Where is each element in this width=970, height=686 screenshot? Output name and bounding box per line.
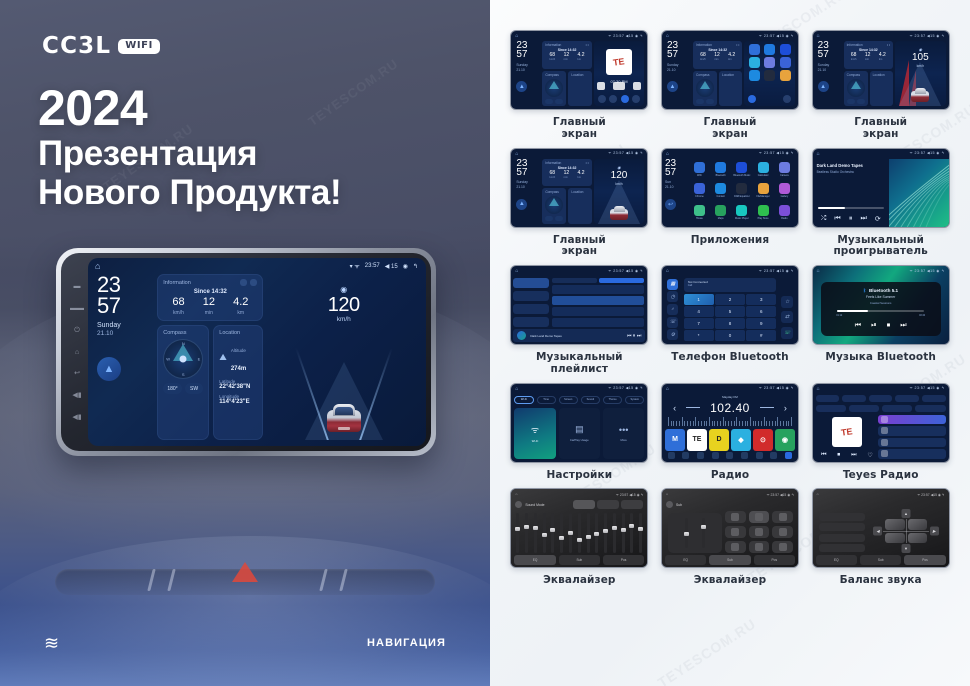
caption-line-1: Приложения	[691, 234, 770, 246]
previous-icon: ⏮	[834, 215, 840, 223]
dial-key[interactable]: 4	[684, 306, 714, 317]
side-hardware-keys[interactable]: ▬ ▬▬ ⏻ ⌂ ↩ ◀▮ ◀▮	[66, 258, 88, 446]
eq-preset-key[interactable]	[749, 511, 770, 523]
compass-card[interactable]: Compass	[542, 188, 566, 223]
eq-preset-key[interactable]	[725, 526, 746, 538]
thumb-status-bar: ⌂ ᯤ 23:57 ◀15 ◉ ↰	[662, 31, 798, 41]
location-card[interactable]: Location ⛰ Altitude 274m	[213, 325, 263, 440]
radio-preset[interactable]: M	[665, 429, 685, 451]
caption-line-2: экран	[712, 128, 748, 140]
teyes-tab[interactable]	[816, 395, 840, 402]
mountain-icon: ⛰	[219, 352, 227, 363]
gallery-item[interactable]: ⌂ᯤ 23:57 ◀15 ◉ ↰ Sub EQSubPos Эквалайзер	[659, 488, 802, 587]
stat-item: 12min	[865, 53, 871, 61]
clock-hours: 23	[97, 274, 152, 295]
app-icon[interactable]: Contact	[711, 181, 730, 201]
home-icon[interactable]: ⌂	[817, 492, 819, 496]
home-icon[interactable]: ⌂	[95, 261, 100, 271]
dial-key[interactable]: 7	[684, 318, 714, 329]
home-icon[interactable]: ⌂	[666, 386, 669, 392]
head-unit-screen[interactable]: ⌂ ▾ ᯤ 23:57 ◀ 15 ◉ ↰	[88, 258, 426, 446]
status-icons: ᯤ 23:57 ◀15 ◉ ↰	[608, 151, 643, 156]
home-icon[interactable]: ⌂	[515, 33, 518, 39]
seek-up-icon[interactable]: ›	[784, 403, 787, 413]
caption-line-2: экран	[561, 245, 597, 257]
eq-band-slider[interactable]	[630, 513, 633, 553]
dialpad: 123456789*0#	[684, 294, 777, 341]
sound-mode-chip[interactable]: Sound Mode	[515, 501, 544, 508]
teyes-tab[interactable]	[842, 395, 866, 402]
expand-icon[interactable]	[250, 279, 257, 286]
dashboard-lower-curve	[0, 536, 490, 686]
home-icon[interactable]: ⌂	[817, 151, 820, 157]
radio-toolbar-icon[interactable]	[741, 452, 748, 459]
tab-sub: Sub	[860, 555, 901, 565]
gallery-item[interactable]: ⌂ ᯤ 23:57 ◀15 ◉ ↰ 23 57 Sunday21.10 ▲ In…	[809, 30, 952, 141]
eq-preset-key[interactable]	[725, 511, 746, 523]
app-icon[interactable]: WiFi	[690, 160, 709, 180]
settings-tabs: Wi-FiTimeScreenSoundThemeSystem	[514, 396, 644, 404]
back-icon[interactable]: ↩	[665, 199, 676, 210]
media-widget[interactable]: TE 07:30 PM	[594, 41, 645, 106]
app-icon[interactable]	[763, 44, 777, 55]
navigation-fab[interactable]: ▲	[818, 81, 829, 92]
app-icon[interactable]	[747, 70, 761, 81]
balance-down-icon[interactable]: ▼	[902, 544, 911, 553]
navigation-fab[interactable]: ▲	[516, 199, 527, 210]
app-icon[interactable]	[778, 57, 792, 68]
screen-thumbnail[interactable]: ⌂ ᯤ 23:57 ◀15 ◉ ↰ ▦◷ ⌕☏⚙ Not Connected C…	[661, 265, 799, 345]
playback-controls[interactable]: ⏮⏹⏭♡	[816, 452, 879, 459]
seat-preset-row[interactable]	[819, 523, 865, 531]
tab-eq: EQ	[816, 555, 857, 565]
gallery-item[interactable]: ⌂ᯤ 23:57 ◀15 ◉ ↰ Sound Mode EQSubPos Экв…	[508, 488, 651, 587]
thumbnail-caption: Радио	[711, 470, 749, 482]
location-card[interactable]: Location	[568, 188, 591, 223]
previous-icon	[597, 82, 605, 90]
thumbnail-caption: Музыкальныйпроигрыватель	[833, 235, 927, 259]
radio-toolbar-icon[interactable]	[682, 452, 689, 459]
dial-key[interactable]: 0	[715, 330, 745, 341]
app-icon[interactable]: Music Player	[732, 203, 751, 223]
app-icon[interactable]: Hicate	[690, 203, 709, 223]
status-clock: 23:57	[365, 263, 380, 269]
home-icon[interactable]: ⌂	[515, 386, 518, 392]
eq-band-slider[interactable]	[534, 513, 537, 553]
clock-date: Sunday21.10	[818, 63, 842, 73]
station-row[interactable]	[878, 415, 946, 425]
thumb-status-bar: ⌂ ᯤ 23:57 ◀15 ◉ ↰	[511, 149, 647, 159]
contacts-icon: ☏	[667, 317, 678, 328]
eq-band-slider[interactable]	[525, 513, 528, 553]
speed-unit: km/h	[594, 182, 645, 186]
dial-key[interactable]: 3	[746, 294, 776, 305]
app-icon[interactable]	[763, 57, 777, 68]
eq-footer-tabs[interactable]: EQSubPos	[514, 555, 644, 565]
playlist-row[interactable]	[552, 318, 644, 327]
stat-item: 4.2km	[578, 171, 585, 179]
screen-thumbnail[interactable]: ⌂ ᯤ 23:57 ◀15 ◉ ↰ 2357 Sun21.10↩ WiFiBlu…	[661, 148, 799, 228]
app-icon[interactable]: Bluetooth	[711, 160, 730, 180]
driving-widget[interactable]: ◉ 105 km/h	[895, 41, 946, 106]
eq-band-slider[interactable]	[613, 513, 616, 553]
radio-toolbar-icon[interactable]	[712, 452, 719, 459]
playback-controls[interactable]: ⏮⏯ ⏹⏭	[855, 322, 907, 330]
radio-toolbar-icon[interactable]	[697, 452, 704, 459]
power-key-icon[interactable]: ⏻	[74, 327, 80, 334]
screen-thumbnail[interactable]: ⌂ ᯤ 23:57 ◀15 ◉ ↰ 23 57 Sunday21.10 ▲ In…	[661, 30, 799, 110]
station-row[interactable]	[878, 438, 946, 448]
gallery-item[interactable]: ⌂ᯤ 23:57 ◀15 ◉ ↰ ▲ ▼ ◀ ▶ EQSubPos Баланс…	[809, 488, 952, 587]
back-icon[interactable]: ↰	[413, 263, 418, 270]
teyes-filter[interactable]	[882, 405, 912, 412]
thumbnail-caption: Teyes Радио	[843, 470, 919, 482]
playback-controls[interactable]: ⤮⏮ ⏸⏭⟳	[817, 215, 885, 223]
seat-preset-row[interactable]	[819, 513, 865, 521]
radio-preset[interactable]: TE	[687, 429, 707, 451]
eq-preset-key[interactable]	[725, 541, 746, 553]
navigation-fab[interactable]: ▲	[667, 81, 678, 92]
dial-key[interactable]: #	[746, 330, 776, 341]
layers-icon: ≋	[44, 634, 59, 652]
compass-dial: N S E W	[163, 339, 203, 379]
album-art: TE	[606, 49, 632, 75]
eq-preset-key[interactable]	[772, 511, 793, 523]
stop-icon: ⏹	[837, 452, 840, 459]
screen-thumbnail[interactable]: ⌂ ᯤ 23:57 ◀15 ◉ ↰ ᛒBluetooth 5.1 Feels L…	[812, 265, 950, 345]
navigation-fab[interactable]: ▲	[97, 357, 121, 381]
home-icon[interactable]: ⌂	[515, 492, 517, 496]
app-shortcuts[interactable]	[744, 41, 795, 106]
progress-bar[interactable]	[837, 310, 923, 311]
tab-icon	[621, 95, 629, 103]
status-icons: ᯤ 23:57 ◀15 ◉ ↰	[759, 34, 794, 39]
call-label: Call	[688, 284, 773, 287]
balance-up-icon[interactable]: ▲	[902, 509, 911, 518]
dial-key[interactable]: 9	[746, 318, 776, 329]
teyes-tab[interactable]	[895, 395, 919, 402]
eq-band-slider[interactable]	[551, 513, 554, 553]
eq-footer-tabs[interactable]: EQSubPos	[665, 555, 795, 565]
compass-card[interactable]: Compass	[542, 71, 566, 106]
app-icon[interactable]: Chrome	[690, 181, 709, 201]
stat-item: 12min	[564, 171, 570, 179]
eq-band-slider[interactable]	[622, 513, 625, 553]
radio-preset[interactable]: D	[709, 429, 729, 451]
radio-toolbar-icon[interactable]	[770, 452, 777, 459]
frequency-scale[interactable]	[668, 417, 792, 426]
gallery-item[interactable]: ⌂ ᯤ 23:57 ◀15 ◉ ↰ Dark Land Demo Tapes ⏮…	[508, 265, 651, 376]
radio-toolbar-icon[interactable]	[726, 452, 733, 459]
compass-card[interactable]: Compass	[844, 71, 868, 106]
preset-button[interactable]	[597, 500, 619, 509]
home-icon[interactable]: ⌂	[817, 33, 820, 39]
information-stats: 68km/h 12min 4.2km	[545, 53, 588, 61]
compass-heading-cone	[851, 81, 861, 89]
screen-thumbnail[interactable]: ⌂ ᯤ 23:57 ◀15 ◉ ↰ TE ⏮⏹⏭♡	[812, 383, 950, 463]
thumbnail-caption: Приложения	[691, 235, 770, 247]
tune-up-icon[interactable]	[760, 407, 774, 409]
radio-preset[interactable]: ⊙	[753, 429, 773, 451]
compass-e: E	[198, 357, 201, 362]
settings-tab[interactable]: Time	[537, 396, 556, 404]
menu-key-icon[interactable]: ▬	[74, 283, 81, 290]
clock-widget: 2357 Sun21.10↩	[665, 159, 686, 224]
screen-thumbnail[interactable]: ⌂ᯤ 23:57 ◀15 ◉ ↰ ▲ ▼ ◀ ▶ EQSubPos	[812, 488, 950, 568]
settings-tab[interactable]: Wi-Fi	[514, 396, 533, 404]
eq-band-slider[interactable]	[578, 513, 581, 553]
thumb-status-bar: ⌂ᯤ 23:57 ◀15 ◉ ↰	[813, 489, 949, 499]
dial-key[interactable]: 6	[746, 306, 776, 317]
compass-direction: SW	[185, 383, 204, 394]
gallery-item[interactable]: ⌂ ᯤ 23:57 ◀15 ◉ ↰ ᛒBluetooth 5.1 Feels L…	[809, 265, 952, 376]
information-card[interactable]: Information• • Since 14:32 68km/h 12min …	[542, 41, 591, 69]
home-icon[interactable]: ⌂	[817, 268, 820, 274]
app-icon[interactable]	[778, 44, 792, 55]
home-screen: 23 57 Sunday21.10 ▲ Information• • Since…	[665, 41, 795, 106]
information-card-actions[interactable]	[240, 279, 257, 286]
gallery-item[interactable]: ⌂ ᯤ 23:57 ◀15 ◉ ↰ ▦◷ ⌕☏⚙ Not Connected C…	[659, 265, 802, 376]
driving-widget[interactable]: ◉ 120 km/h	[268, 274, 419, 440]
compass-dial	[696, 79, 714, 97]
station-row[interactable]	[878, 449, 946, 459]
radio-toolbar-icon[interactable]	[756, 452, 763, 459]
track-title: Dark Land Demo Tapes	[530, 334, 561, 338]
speed-icon: ◉	[340, 285, 347, 294]
information-title: Information• •	[545, 43, 588, 47]
eq-band-slider[interactable]	[604, 513, 607, 553]
settings-tab[interactable]: Screen	[559, 396, 578, 404]
eq-band-slider[interactable]	[595, 513, 598, 553]
eq-preset-key[interactable]	[749, 526, 770, 538]
eq-preset-key[interactable]	[749, 541, 770, 553]
mute-key-icon[interactable]: ▬▬	[70, 305, 84, 312]
eq-band-slider[interactable]	[543, 513, 546, 553]
location-card[interactable]: Location	[719, 71, 742, 106]
screen-thumbnail[interactable]: ⌂ᯤ 23:57 ◀15 ◉ ↰ Sub EQSubPos	[661, 488, 799, 568]
eq-band-slider[interactable]	[587, 513, 590, 553]
seat-preset-row[interactable]	[819, 544, 865, 552]
app-icon[interactable]: DAB Equalizer	[732, 181, 751, 201]
screen-thumbnail[interactable]: ⌂ ᯤ 23:57 ◀15 ◉ ↰ 23 57 Sunday21.10 ▲ In…	[812, 30, 950, 110]
app-icon[interactable]	[747, 44, 761, 55]
app-icon[interactable]: Radio	[775, 203, 794, 223]
play-icon	[613, 82, 625, 90]
preset-button[interactable]	[573, 500, 595, 509]
phone-sidebar[interactable]: ▦◷ ⌕☏⚙	[664, 278, 682, 341]
screen-thumbnail[interactable]: ⌂ ᯤ 23:57 ◀15 ◉ ↰ Mayday FM ‹ 102.40 › M…	[661, 383, 799, 463]
gallery-item[interactable]: ⌂ ᯤ 23:57 ◀15 ◉ ↰Wi-FiTimeScreenSoundThe…	[508, 383, 651, 482]
app-icon[interactable]: FileManager	[754, 181, 773, 201]
teyes-filter[interactable]	[816, 405, 846, 412]
balance-left-icon[interactable]: ◀	[873, 527, 882, 536]
hazard-light-button[interactable]	[232, 562, 258, 584]
dial-key[interactable]: *	[684, 330, 714, 341]
home-icon[interactable]: ⌂	[666, 33, 669, 39]
eq-band-slider[interactable]	[560, 513, 563, 553]
home-screen: 23 57 Sunday21.10 ▲ Information• • Since…	[514, 41, 644, 106]
settings-tab[interactable]: Theme	[603, 396, 622, 404]
eq-preset-key[interactable]	[772, 526, 793, 538]
back-key-icon[interactable]: ↩	[74, 370, 80, 377]
playlist-sidebar[interactable]	[513, 278, 548, 327]
station-row[interactable]	[878, 426, 946, 436]
playlist-row[interactable]	[552, 285, 644, 294]
home-icon[interactable]: ⌂	[666, 492, 668, 496]
app-icon[interactable]: Play Store	[754, 203, 773, 223]
app-icon[interactable]	[747, 57, 761, 68]
thumb-status-bar: ⌂ ᯤ 23:57 ◀15 ◉ ↰	[813, 31, 949, 41]
app-icon[interactable]: Gallery	[775, 181, 794, 201]
phone-actions[interactable]: ☆⇄☏	[778, 294, 796, 341]
location-card[interactable]: Location	[568, 71, 591, 106]
seat-preset-row[interactable]	[819, 534, 865, 542]
clock-widget[interactable]: 23 57 Sunday21.10 ▲	[665, 41, 691, 106]
radio-preset[interactable]: ◉	[775, 429, 795, 451]
teyes-filter[interactable]	[915, 405, 945, 412]
screen-thumbnail[interactable]: ⌂ ᯤ 23:57 ◀15 ◉ ↰Wi-FiTimeScreenSoundThe…	[510, 383, 648, 463]
app-icon[interactable]	[778, 70, 792, 81]
mini-player[interactable]: Dark Land Demo Tapes ⏮ ⏸ ⏭	[513, 329, 645, 342]
seek-down-icon[interactable]: ‹	[673, 403, 676, 413]
clock-widget[interactable]: 23 57 Sunday21.10 ▲	[514, 159, 540, 224]
eq-preset-key[interactable]	[772, 541, 793, 553]
compass-direction	[555, 216, 563, 221]
information-title: Information• •	[696, 43, 739, 47]
sub-sliders[interactable]	[668, 513, 722, 553]
information-card[interactable]: Information• • Since 14:32 68km/h 12min …	[693, 41, 742, 69]
eq-band-slider[interactable]	[569, 513, 572, 553]
navigation-fab[interactable]: ▲	[516, 81, 527, 92]
screen-thumbnail[interactable]: ⌂ ᯤ 23:57 ◀15 ◉ ↰ 23 57 Sunday21.10 ▲ In…	[510, 148, 648, 228]
compass-direction	[555, 99, 563, 104]
radio-toolbar-icon[interactable]	[785, 452, 792, 459]
settings-tab[interactable]: Sound	[581, 396, 600, 404]
play-pause-icon: ⏯	[871, 322, 877, 330]
app-icon[interactable]: Calculator	[754, 160, 773, 180]
home-key-icon[interactable]: ⌂	[75, 349, 79, 356]
more-card[interactable]: •••More	[603, 408, 644, 459]
thumb-status-bar: ⌂ ᯤ 23:57 ◀15 ◉ ↰	[813, 266, 949, 276]
stat-item: 12 min	[203, 297, 215, 316]
speaker-rear-left	[885, 533, 904, 544]
information-stats: 68 km/h 12 min	[163, 297, 257, 316]
gallery-item[interactable]: ⌂ ᯤ 23:57 ◀15 ◉ ↰ 2357 Sun21.10↩ WiFiBlu…	[659, 148, 802, 259]
app-icon[interactable]: Bluetooth Music	[732, 160, 751, 180]
speaker-rear-right	[908, 533, 927, 544]
home-icon[interactable]: ⌂	[817, 386, 820, 392]
compass-card[interactable]: Compass N S E W	[157, 325, 209, 440]
status-icons: ᯤ 23:57 ◀15 ◉ ↰	[909, 269, 944, 274]
information-card[interactable]: Information• • Since 14:32 68km/h 12min …	[844, 41, 893, 69]
sync-contacts-icon: ⇄	[781, 311, 793, 323]
status-icons: ᯤ 23:57 ◀15 ◉ ↰	[608, 34, 643, 39]
tune-down-icon[interactable]	[686, 407, 700, 409]
clock-widget[interactable]: 23 57 Sunday21.10 ▲	[514, 41, 540, 106]
screen-thumbnail[interactable]: ⌂ ᯤ 23:57 ◀15 ◉ ↰ Dark Land Demo Tapes ⏮…	[510, 265, 648, 345]
wifi-card[interactable]: ᯤWi-Fi	[514, 408, 555, 459]
playlist-tabs[interactable]	[552, 278, 644, 283]
app-icon[interactable]	[763, 70, 777, 81]
screen-thumbnail[interactable]: ⌂ ᯤ 23:57 ◀15 ◉ ↰ 23 57 Sunday21.10 ▲ In…	[510, 30, 648, 110]
dial-key[interactable]: 8	[715, 318, 745, 329]
head-unit-frame: ▬ ▬▬ ⏻ ⌂ ↩ ◀▮ ◀▮ ⌂ ▾ ᯤ 23:57	[61, 253, 431, 451]
information-card[interactable]: Information• • Since 14:32 68km/h 12min …	[542, 159, 591, 187]
teyes-tab[interactable]	[869, 395, 893, 402]
driving-widget[interactable]: ◉ 120 km/h	[594, 159, 645, 224]
caption-line-1: Радио	[711, 469, 749, 481]
home-icon[interactable]: ⌂	[515, 268, 518, 274]
app-icon[interactable]: Camera	[775, 160, 794, 180]
app-icon[interactable]: Maps	[711, 203, 730, 223]
balance-pad[interactable]: ▲ ▼ ◀ ▶	[873, 509, 938, 553]
radio-preset[interactable]: ◆	[731, 429, 751, 451]
balance-right-icon[interactable]: ▶	[930, 527, 939, 536]
headline-year: 2024	[38, 82, 341, 134]
gallery-item[interactable]: ⌂ ᯤ 23:57 ◀15 ◉ ↰ Mayday FM ‹ 102.40 › M…	[659, 383, 802, 482]
screen-status-bar: ⌂ ▾ ᯤ 23:57 ◀ 15 ◉ ↰	[88, 258, 426, 274]
radio-toolbar	[664, 451, 796, 460]
information-card[interactable]: Information Since 14:32	[157, 274, 263, 321]
preset-button[interactable]	[621, 500, 643, 509]
sound-mode-chip[interactable]: Sub	[666, 501, 682, 508]
clock-widget[interactable]: 23 57 Sunday21.10 ▲	[816, 41, 842, 106]
refresh-icon[interactable]	[240, 279, 247, 286]
gallery-item[interactable]: ⌂ ᯤ 23:57 ◀15 ◉ ↰ 23 57 Sunday21.10 ▲ In…	[508, 148, 651, 259]
shortcut-tabs	[748, 95, 791, 103]
compass-card[interactable]: Compass	[693, 71, 717, 106]
gallery-item[interactable]: ⌂ ᯤ 23:57 ◀15 ◉ ↰ Dark Land Demo Tapes B…	[809, 148, 952, 259]
dial-key[interactable]: 2	[715, 294, 745, 305]
playlist-row[interactable]	[552, 307, 644, 316]
favorite-icon: ♡	[867, 452, 872, 459]
progress-bar[interactable]	[818, 207, 884, 209]
volume-down-key-icon[interactable]: ◀▮	[72, 392, 81, 399]
screen-thumbnail[interactable]: ⌂ ᯤ 23:57 ◀15 ◉ ↰ Dark Land Demo Tapes B…	[812, 148, 950, 228]
playlist-row[interactable]	[552, 296, 644, 305]
dial-key[interactable]: 1	[684, 294, 714, 305]
home-icon[interactable]: ⌂	[515, 151, 518, 157]
gallery-item[interactable]: ⌂ ᯤ 23:57 ◀15 ◉ ↰ 23 57 Sunday21.10 ▲ In…	[508, 30, 651, 141]
clock-widget[interactable]: 23 57 Sunday 21.10 ▲	[95, 274, 152, 440]
teyes-filter[interactable]	[849, 405, 879, 412]
location-card[interactable]: Location	[870, 71, 893, 106]
pause-icon: ⏸	[849, 215, 853, 223]
radio-toolbar-icon[interactable]	[668, 452, 675, 459]
settings-tab[interactable]: System	[625, 396, 644, 404]
status-icons: ᯤ 23:57 ◀15 ◉ ↰	[917, 492, 945, 497]
media-controls[interactable]	[594, 82, 645, 90]
carplay-card[interactable]: ▤CarPlay Usage	[559, 408, 600, 459]
thumb-status-bar: ⌂ ᯤ 23:57 ◀15 ◉ ↰	[662, 149, 798, 159]
information-title: Information• •	[545, 161, 588, 165]
home-icon[interactable]: ⌂	[666, 268, 669, 274]
volume-up-key-icon[interactable]: ◀▮	[72, 414, 81, 421]
teyes-tab[interactable]	[922, 395, 946, 402]
gallery-item[interactable]: ⌂ ᯤ 23:57 ◀15 ◉ ↰ TE ⏮⏹⏭♡ Teyes Радио	[809, 383, 952, 482]
eq-band-slider[interactable]	[639, 513, 642, 553]
gallery-item[interactable]: ⌂ ᯤ 23:57 ◀15 ◉ ↰ 23 57 Sunday21.10 ▲ In…	[659, 30, 802, 141]
media-tabs[interactable]	[598, 95, 641, 103]
caption-line-1: Эквалайзер	[694, 574, 766, 586]
home-icon[interactable]: ⌂	[666, 151, 669, 157]
eq-footer-tabs[interactable]: EQSubPos	[816, 555, 946, 565]
eq-band-slider[interactable]	[516, 513, 519, 553]
home-secondary-cards: Compass Location	[693, 71, 742, 106]
caption-line-1: Музыкальный	[837, 234, 924, 246]
screen-thumbnail[interactable]: ⌂ᯤ 23:57 ◀15 ◉ ↰ Sound Mode EQSubPos	[510, 488, 648, 568]
dial-key[interactable]: 5	[715, 306, 745, 317]
